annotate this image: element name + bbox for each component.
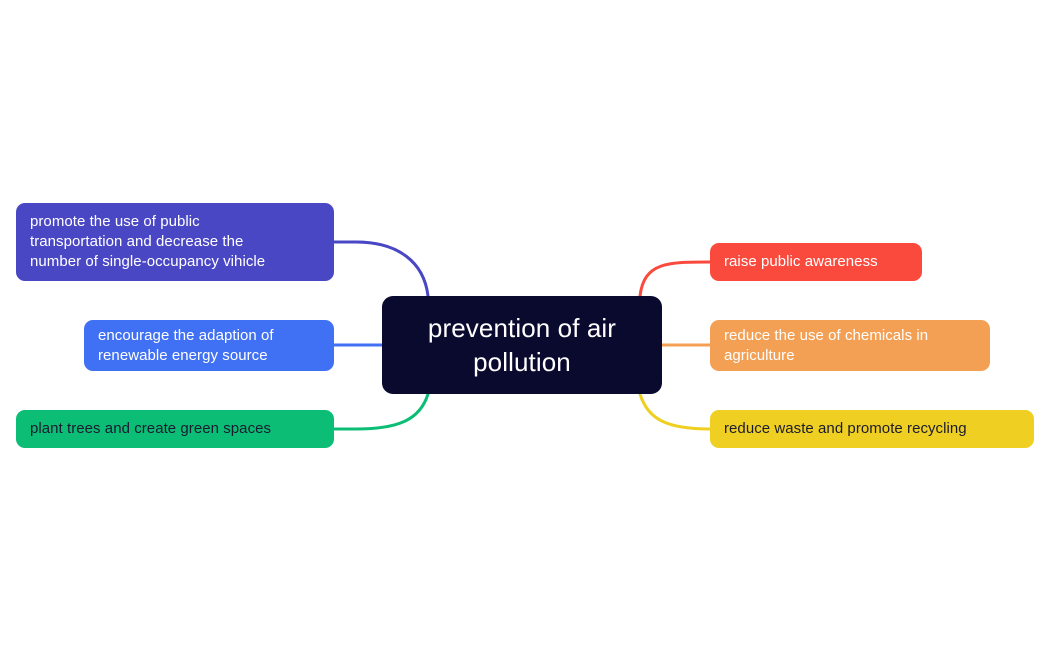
branch-node-trees-label: plant trees and create green spaces [30, 419, 320, 439]
connector-transport [334, 242, 428, 296]
connector-awareness [640, 262, 710, 296]
mind-map-canvas: prevention of air pollution promote the … [0, 0, 1049, 650]
branch-node-renewable-label: encourage the adaption of renewable ener… [98, 326, 320, 366]
branch-node-awareness[interactable]: raise public awareness [710, 243, 922, 281]
branch-node-chemicals[interactable]: reduce the use of chemicals in agricultu… [710, 320, 990, 371]
branch-node-trees[interactable]: plant trees and create green spaces [16, 410, 334, 448]
branch-node-transport[interactable]: promote the use of public transportation… [16, 203, 334, 281]
branch-node-waste[interactable]: reduce waste and promote recycling [710, 410, 1034, 448]
connector-waste [640, 394, 710, 429]
root-node-label: prevention of air pollution [382, 311, 662, 379]
branch-node-chemicals-label: reduce the use of chemicals in agricultu… [724, 326, 976, 366]
branch-node-renewable[interactable]: encourage the adaption of renewable ener… [84, 320, 334, 371]
branch-node-transport-label: promote the use of public transportation… [30, 212, 320, 272]
root-node[interactable]: prevention of air pollution [382, 296, 662, 394]
branch-node-awareness-label: raise public awareness [724, 252, 908, 272]
connector-trees [334, 394, 428, 429]
branch-node-waste-label: reduce waste and promote recycling [724, 419, 1020, 439]
